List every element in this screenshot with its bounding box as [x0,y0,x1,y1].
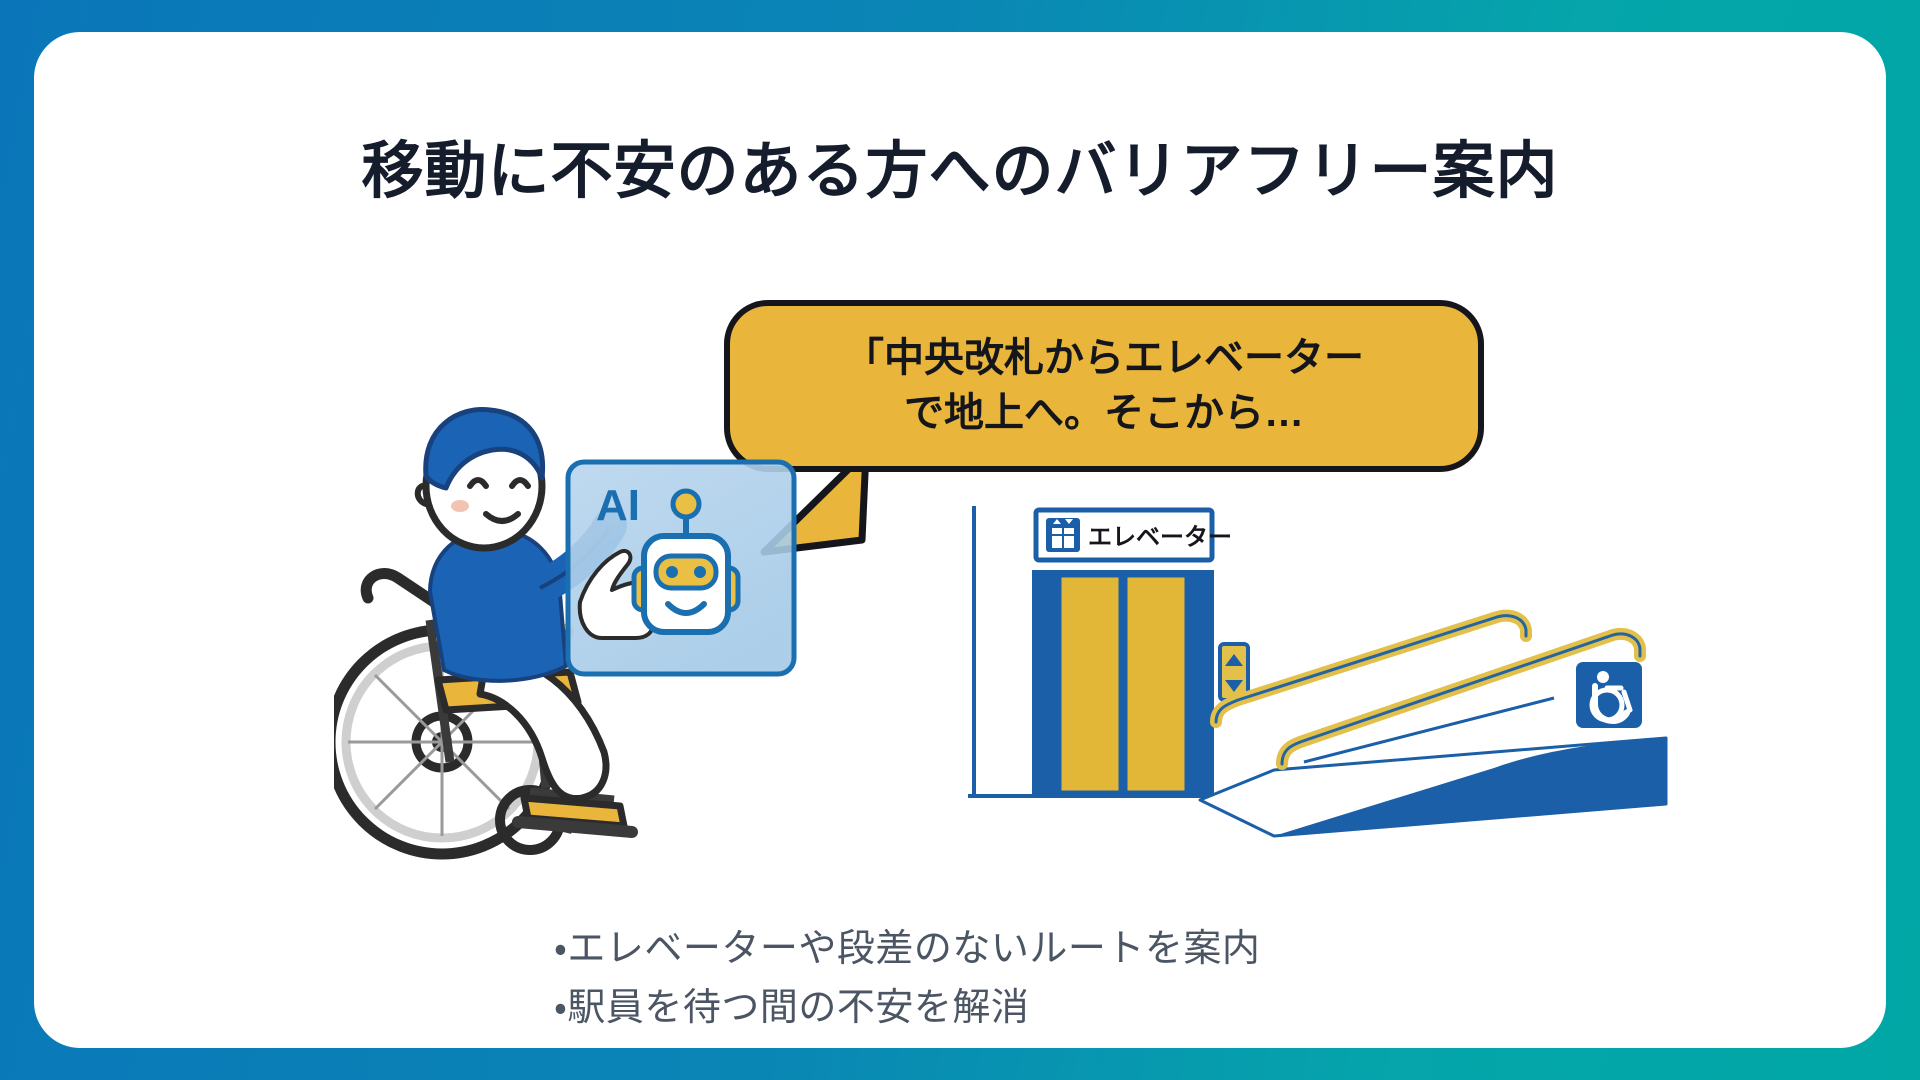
ai-panel-label: AI [596,481,640,530]
ai-assistant-panel[interactable]: AI [562,452,802,682]
speech-bubble-group: 「中央改札からエレベーター で地上へ。そこから… [724,300,1484,490]
elevator-door-left[interactable] [1060,576,1120,792]
list-item: ・駅員を待つ間の不安を解消 [554,979,1454,1038]
slide-root: 移動に不安のある方へのバリアフリー案内 「中央改札からエレベーター で地上へ。そ… [0,0,1920,1080]
speech-bubble-line-2: で地上へ。そこから… [904,389,1304,438]
speech-bubble-line-1: 「中央改札からエレベーター [844,334,1364,383]
slide-card: 移動に不安のある方へのバリアフリー案内 「中央改札からエレベーター で地上へ。そ… [34,32,1886,1048]
list-item: ・エレベーターや段差のないルートを案内 [554,920,1454,979]
feature-bullet-list: ・エレベーターや段差のないルートを案内 ・駅員を待つ間の不安を解消 [554,920,1454,1038]
page-title: 移動に不安のある方へのバリアフリー案内 [34,120,1886,210]
elevator-sign-label: エレベーター [1088,524,1232,551]
robot-antenna-icon [673,491,699,517]
elevator-door-right[interactable] [1126,576,1186,792]
accessible-ramp-illustration [1194,592,1714,852]
speech-bubble: 「中央改札からエレベーター で地上へ。そこから… [724,300,1484,472]
